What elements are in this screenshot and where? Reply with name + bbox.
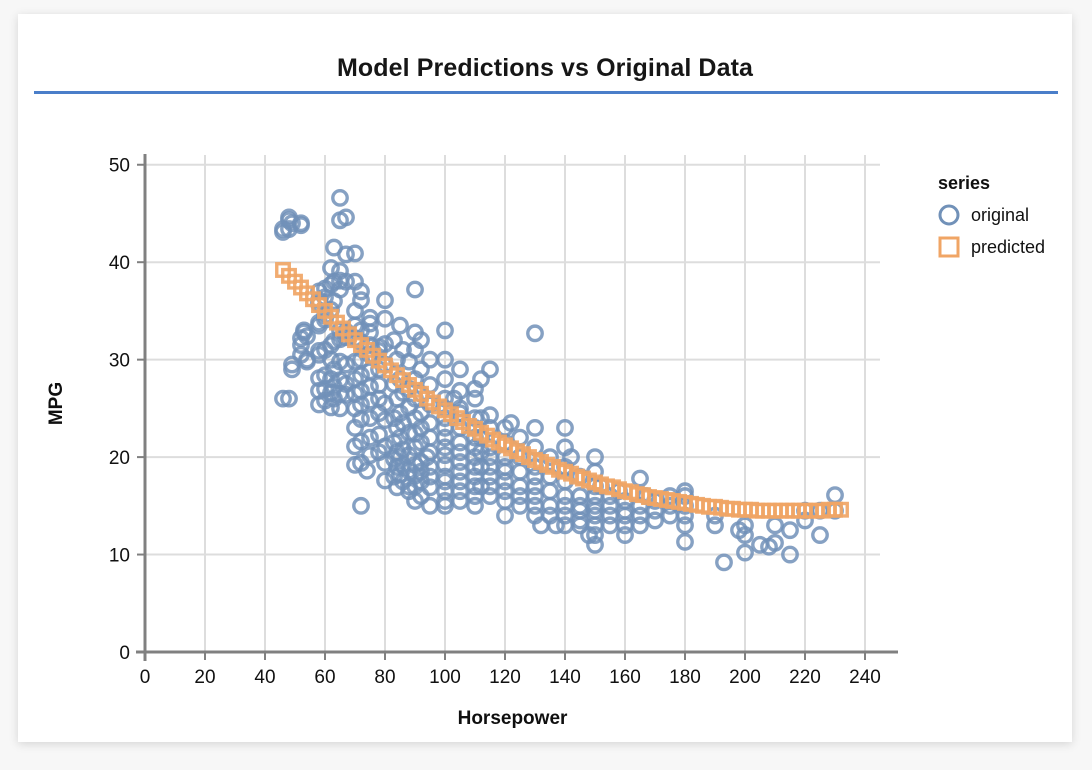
data-point: [603, 518, 617, 532]
chart-card: Model Predictions vs Original Data 02040…: [18, 14, 1072, 742]
y-axis-label: MPG: [46, 382, 67, 425]
data-point: [468, 391, 482, 405]
data-point: [663, 508, 677, 522]
data-point: [783, 523, 797, 537]
x-axis-label: Horsepower: [458, 708, 568, 729]
data-point: [543, 484, 557, 498]
x-tick-label: 40: [254, 667, 275, 688]
data-point: [813, 528, 827, 542]
data-point: [513, 465, 527, 479]
data-point: [453, 494, 467, 508]
x-tick-label: 60: [314, 667, 335, 688]
x-tick-label: 200: [729, 667, 761, 688]
x-tick-label: 20: [194, 667, 215, 688]
x-tick-label: 240: [849, 667, 881, 688]
data-point: [648, 513, 662, 527]
chart-container: 0204060801001201401601802002202400102030…: [18, 14, 1072, 742]
y-tick-label: 20: [109, 448, 130, 469]
data-point: [633, 471, 647, 485]
data-point: [453, 362, 467, 376]
data-point: [483, 362, 497, 376]
axes: [136, 154, 898, 661]
data-point: [327, 240, 341, 254]
data-point: [423, 378, 437, 392]
data-point: [423, 499, 437, 513]
data-points: [276, 191, 847, 570]
legend-title: series: [938, 173, 990, 193]
x-tick-label: 180: [669, 667, 701, 688]
legend-item-original[interactable]: original: [940, 205, 1029, 225]
legend: seriesoriginalpredicted: [938, 173, 1045, 257]
y-tick-label: 30: [109, 351, 130, 372]
gridlines: [145, 155, 880, 652]
data-point: [354, 499, 368, 513]
x-tick-label: 80: [374, 667, 395, 688]
data-point: [513, 499, 527, 513]
data-point: [528, 421, 542, 435]
y-tick-label: 10: [109, 546, 130, 567]
data-point: [408, 282, 422, 296]
scatter-plot: 0204060801001201401601802002202400102030…: [18, 14, 1072, 742]
data-point: [528, 326, 542, 340]
x-tick-label: 160: [609, 667, 641, 688]
data-point: [717, 555, 731, 569]
data-point: [483, 489, 497, 503]
data-point: [333, 191, 347, 205]
x-tick-label: 220: [789, 667, 821, 688]
data-point: [348, 246, 362, 260]
legend-item-label: original: [971, 205, 1029, 225]
x-tick-label: 0: [140, 667, 151, 688]
legend-marker-circle-icon: [940, 206, 958, 224]
data-point: [633, 518, 647, 532]
data-point: [468, 499, 482, 513]
legend-item-predicted[interactable]: predicted: [940, 237, 1045, 257]
y-tick-label: 50: [109, 156, 130, 177]
legend-marker-square-icon: [940, 238, 958, 256]
y-tick-label: 0: [119, 643, 130, 664]
data-point: [393, 318, 407, 332]
x-tick-label: 100: [429, 667, 461, 688]
data-point: [768, 518, 782, 532]
x-tick-label: 140: [549, 667, 581, 688]
data-point: [708, 518, 722, 532]
data-point: [828, 488, 842, 502]
x-tick-label: 120: [489, 667, 521, 688]
y-tick-label: 40: [109, 253, 130, 274]
legend-item-label: predicted: [971, 237, 1045, 257]
